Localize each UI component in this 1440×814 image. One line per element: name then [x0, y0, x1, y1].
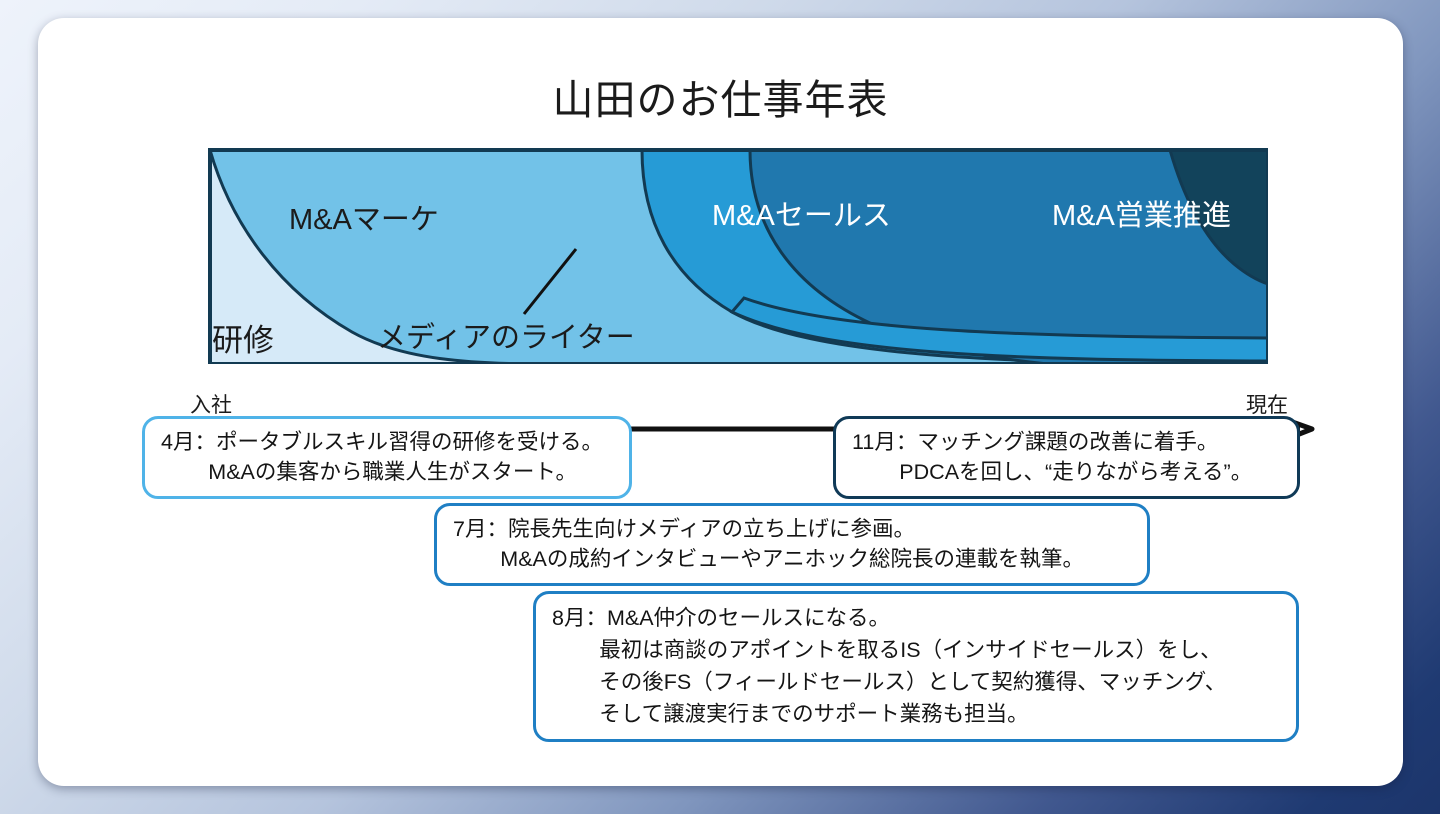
callout-august[interactable]: 8月：M&A仲介のセールスになる。 最初は商談のアポイントを取るIS（インサイド… [533, 591, 1299, 742]
callout-line: その後FS（フィールドセールス）として契約獲得、マッチング、 [552, 666, 1280, 698]
callout-line: M&Aの成約インタビューやアニホック総院長の連載を執筆。 [453, 544, 1131, 574]
callout-line: PDCAを回し、“走りながら考える”。 [852, 457, 1281, 487]
slide-canvas: 山田のお仕事年表 [38, 18, 1403, 786]
callout-line: 8月：M&A仲介のセールスになる。 [552, 602, 1280, 634]
callout-july[interactable]: 7月：院長先生向けメディアの立ち上げに参画。 M&Aの成約インタビューやアニホッ… [434, 503, 1150, 586]
callout-line: 4月：ポータブルスキル習得の研修を受ける。 [161, 427, 613, 457]
callout-november[interactable]: 11月：マッチング課題の改善に着手。 PDCAを回し、“走りながら考える”。 [833, 416, 1300, 499]
callout-line: そして譲渡実行までのサポート業務も担当。 [552, 698, 1280, 730]
axis-end-label: 現在 [1246, 389, 1288, 419]
callout-line: 最初は商談のアポイントを取るIS（インサイドセールス）をし、 [552, 634, 1280, 666]
axis-start-label: 入社 [190, 389, 232, 419]
page-title: 山田のお仕事年表 [38, 66, 1403, 126]
callout-line: M&Aの集客から職業人生がスタート。 [161, 457, 613, 487]
stream-chart-svg [172, 132, 1268, 364]
callout-line: 7月：院長先生向けメディアの立ち上げに参画。 [453, 514, 1131, 544]
callout-april[interactable]: 4月：ポータブルスキル習得の研修を受ける。 M&Aの集客から職業人生がスタート。 [142, 416, 632, 499]
callout-line: 11月：マッチング課題の改善に着手。 [852, 427, 1281, 457]
career-stream-chart: 研修 M&Aマーケ メディアのライター M&Aセールス M&A営業推進 [172, 132, 1268, 364]
stream-layers [210, 150, 1268, 364]
